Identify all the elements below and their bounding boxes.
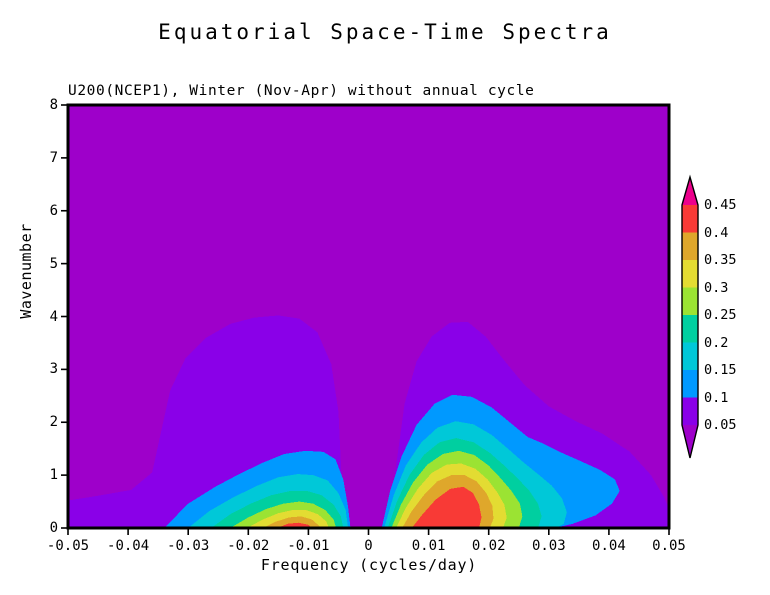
x-tick-label: 0.03 xyxy=(532,538,566,554)
x-tick-label: 0.04 xyxy=(592,538,626,554)
colorbar-over-range-arrow xyxy=(682,177,698,205)
x-tick-label: 0 xyxy=(364,538,372,554)
x-tick-label: -0.04 xyxy=(107,538,149,554)
figure-canvas: Equatorial Space-Time Spectra U200(NCEP1… xyxy=(0,0,770,595)
plot-area xyxy=(68,105,669,528)
y-tick-label: 8 xyxy=(28,97,58,113)
x-tick-label: 0.01 xyxy=(412,538,446,554)
y-axis-label: Wavenumber xyxy=(17,181,35,361)
colorbar-tick-label: 0.4 xyxy=(704,225,728,241)
y-tick-label: 0 xyxy=(28,520,58,536)
colorbar-under-range-arrow xyxy=(682,425,698,458)
x-tick-label: -0.01 xyxy=(287,538,329,554)
colorbar-band xyxy=(682,288,698,316)
colorbar-tick-label: 0.15 xyxy=(704,362,737,378)
figure-title: Equatorial Space-Time Spectra xyxy=(0,20,770,44)
colorbar-band xyxy=(682,233,698,261)
colorbar-band xyxy=(682,370,698,398)
y-tick-label: 2 xyxy=(28,414,58,430)
y-tick-label: 3 xyxy=(28,361,58,377)
x-tick-label: 0.05 xyxy=(652,538,686,554)
x-tick-label: -0.02 xyxy=(227,538,269,554)
x-tick-label: -0.03 xyxy=(167,538,209,554)
x-axis-label: Frequency (cycles/day) xyxy=(68,556,670,574)
colorbar-tick-label: 0.35 xyxy=(704,252,737,268)
colorbar-band xyxy=(682,205,698,233)
colorbar-band xyxy=(682,343,698,371)
x-tick-label: 0.02 xyxy=(472,538,506,554)
colorbar-band xyxy=(682,260,698,288)
colorbar-tick-label: 0.45 xyxy=(704,197,737,213)
x-tick-label: -0.05 xyxy=(47,538,89,554)
colorbar-tick-label: 0.1 xyxy=(704,390,728,406)
colorbar-tick-label: 0.2 xyxy=(704,335,728,351)
colorbar-tick-label: 0.05 xyxy=(704,417,737,433)
colorbar-tick-label: 0.3 xyxy=(704,280,728,296)
figure-subtitle: U200(NCEP1), Winter (Nov-Apr) without an… xyxy=(68,83,535,99)
colorbar[interactable] xyxy=(682,177,698,458)
y-tick-label: 1 xyxy=(28,467,58,483)
colorbar-tick-label: 0.25 xyxy=(704,307,737,323)
colorbar-band xyxy=(682,315,698,343)
y-tick-label: 7 xyxy=(28,150,58,166)
colorbar-band xyxy=(682,398,698,426)
